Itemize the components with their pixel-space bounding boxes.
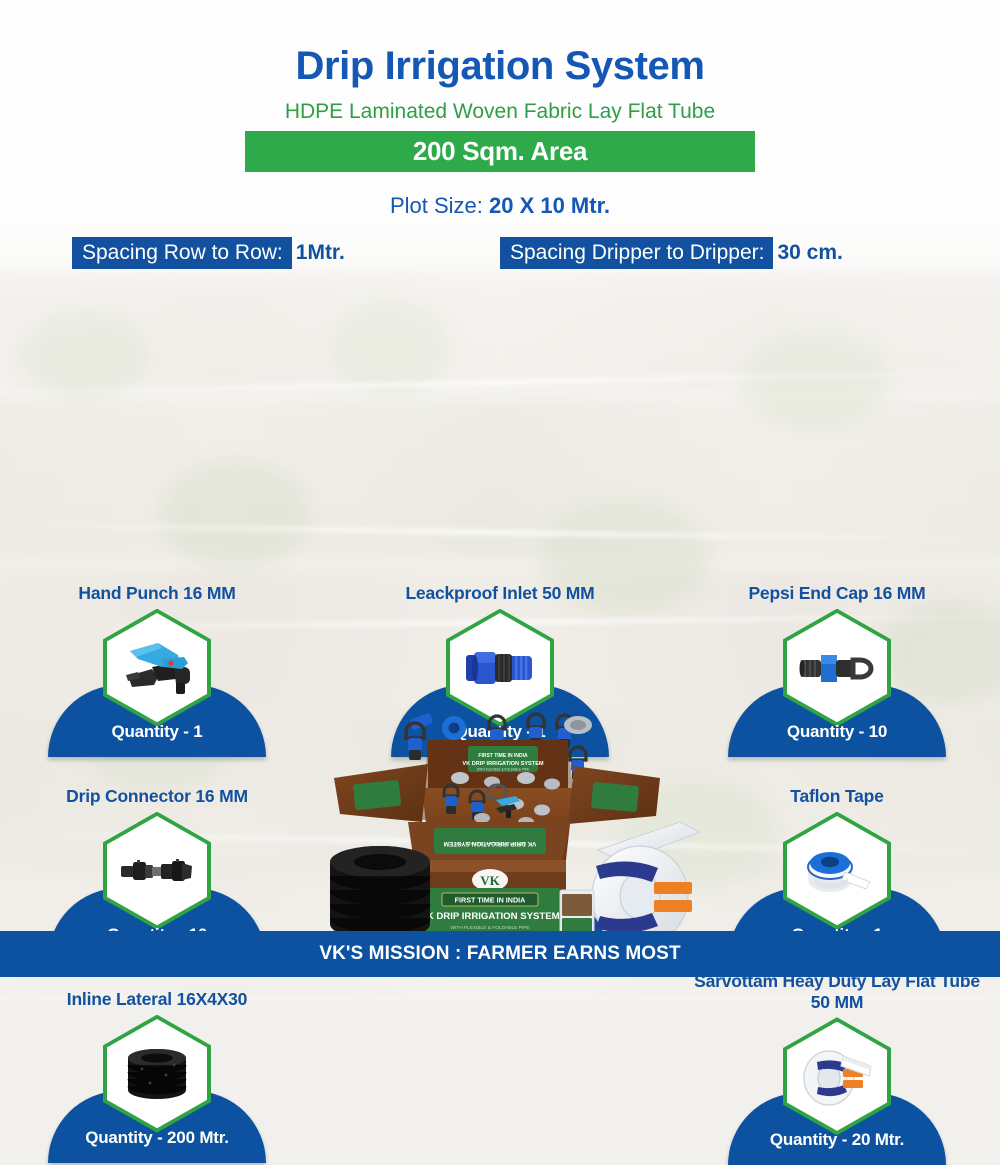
spacing-dripper-to-dripper: Spacing Dripper to Dripper: 30 cm. [500, 237, 843, 269]
drip-connector-icon [107, 816, 207, 925]
pepsi-end-cap-icon [787, 613, 887, 722]
product-stage: Quantity - 10 [687, 609, 987, 757]
plot-size: Plot Size: 20 X 10 Mtr. [0, 195, 1000, 217]
header: Drip Irrigation System HDPE Laminated Wo… [0, 0, 1000, 273]
product-quantity: Quantity - 10 [687, 722, 987, 742]
product-card[interactable]: Hand Punch 16 MM [7, 583, 307, 757]
area-badge-label: 200 Sqm. Area [413, 136, 587, 167]
product-stage: Quantity - 200 Mtr. [7, 1015, 307, 1163]
pack-front-line2: VK DRIP IRRIGATION SYSTEM [420, 911, 559, 922]
product-quantity: Quantity - 20 Mtr. [687, 1130, 987, 1150]
product-name: Pepsi End Cap 16 MM [687, 583, 987, 604]
spacing-row: Spacing Row to Row: 1Mtr. Spacing Drippe… [0, 237, 1000, 273]
product-name: Hand Punch 16 MM [7, 583, 307, 604]
pack-box-label-line2: VK DRIP IRRIGATION SYSTEM [462, 761, 544, 767]
page-subtitle: HDPE Laminated Woven Fabric Lay Flat Tub… [0, 101, 1000, 122]
pack-box-label-line1: FIRST TIME IN INDIA [478, 753, 528, 759]
spacing-dripper-to-dripper-value: 30 cm. [773, 241, 842, 265]
taflon-tape-icon [787, 816, 887, 925]
pack-front-line1: FIRST TIME IN INDIA [455, 896, 526, 905]
product-card[interactable]: Pepsi End Cap 16 MM [687, 583, 987, 757]
product-name: Inline Lateral 16X4X30 [7, 989, 307, 1010]
footer-tagline: VK'S MISSION : FARMER EARNS MOST [319, 943, 680, 965]
pack-box-label-line3: WITH FLEXIBLE & FOLDABLE PIPE [477, 768, 530, 772]
product-name: Leackproof Inlet 50 MM [350, 583, 650, 604]
lay-flat-tube-roll-icon [787, 1022, 887, 1131]
product-quantity: Quantity - 1 [7, 722, 307, 742]
pack-front-flap-line2: VK DRIP IRRIGATION SYSTEM [444, 840, 537, 847]
page-title: Drip Irrigation System [0, 0, 1000, 86]
product-name: Taflon Tape [687, 786, 987, 807]
product-stage: Quantity - 20 Mtr. [687, 1017, 987, 1165]
product-name: Drip Connector 16 MM [7, 786, 307, 807]
spacing-dripper-to-dripper-label: Spacing Dripper to Dripper: [500, 237, 773, 269]
product-name: Sarvottam Heay Duty Lay Flat Tube 50 MM [687, 971, 987, 1012]
spacing-row-to-row: Spacing Row to Row: 1Mtr. [72, 237, 345, 269]
plot-size-label: Plot Size: [390, 193, 489, 218]
inline-lateral-coil-icon [107, 1019, 207, 1128]
hand-punch-icon [107, 613, 207, 722]
product-card[interactable]: Sarvottam Heay Duty Lay Flat Tube 50 MM [687, 971, 987, 1165]
product-quantity: Quantity - 200 Mtr. [7, 1128, 307, 1148]
pack-brand-mark: VK [480, 873, 500, 888]
spacing-row-to-row-value: 1Mtr. [292, 241, 345, 265]
product-pack-photo: FIRST TIME IN INDIA VK DRIP IRRIGATION S… [330, 700, 710, 950]
product-stage: Quantity - 1 [7, 609, 307, 757]
plot-size-value: 20 X 10 Mtr. [489, 193, 610, 218]
area-badge: 200 Sqm. Area [245, 131, 755, 172]
product-card[interactable]: Inline Lateral 16X4X30 [7, 989, 307, 1163]
spacing-row-to-row-label: Spacing Row to Row: [72, 237, 292, 269]
footer-banner: VK'S MISSION : FARMER EARNS MOST [0, 931, 1000, 977]
